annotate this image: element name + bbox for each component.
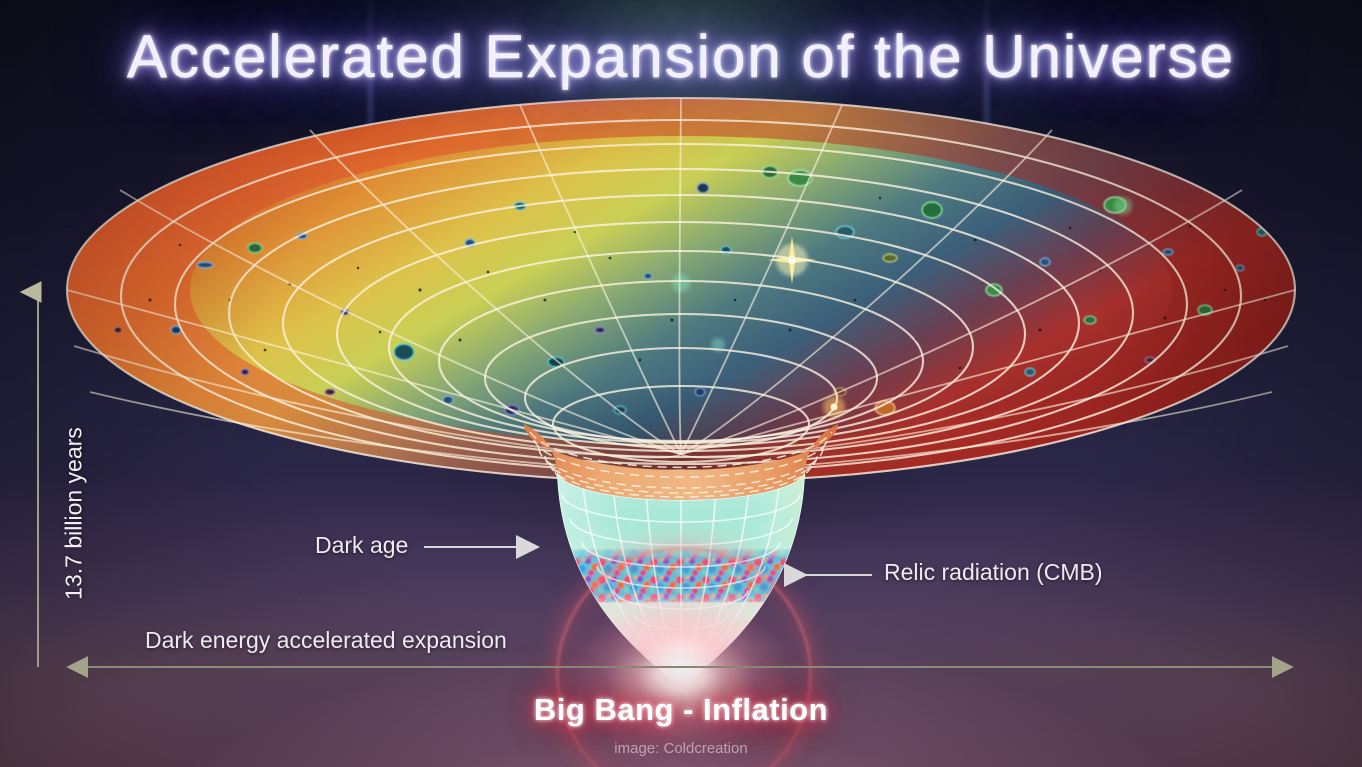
big-bang-core [665, 660, 697, 692]
universe-expansion-figure: 13.7 billion years Dark age Relic radiat… [0, 0, 1362, 767]
expansion-funnel [0, 0, 1362, 767]
